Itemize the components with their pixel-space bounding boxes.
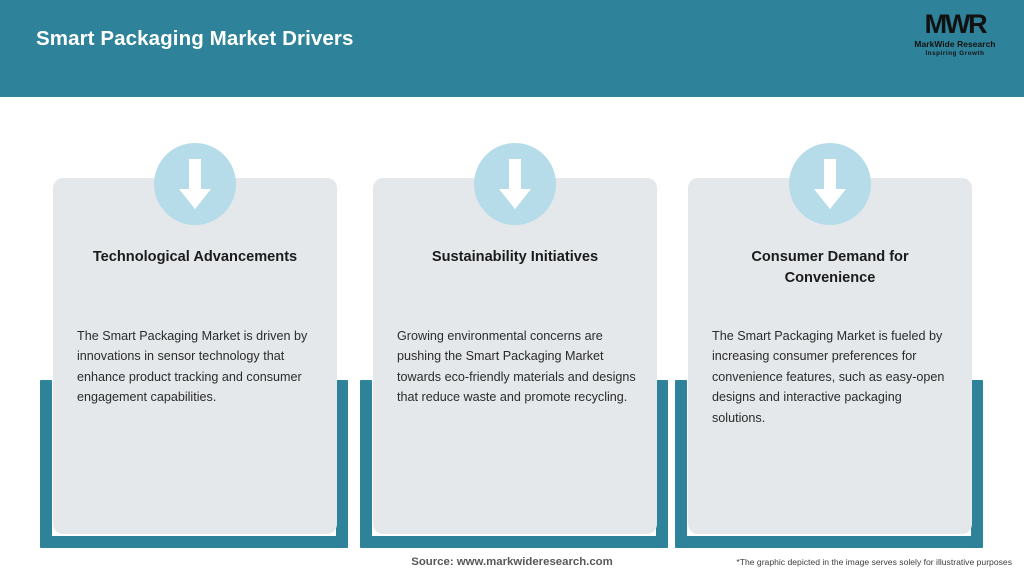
driver-card-3[interactable]: Consumer Demand for Convenience The Smar… [688,178,972,534]
frame-left-bar [360,380,372,548]
page-title: Smart Packaging Market Drivers [36,27,353,51]
logo-mark: MWR [925,11,986,38]
frame-corner-left [40,524,52,536]
driver-card-body: The Smart Packaging Market is driven by … [77,326,317,408]
driver-card-body: The Smart Packaging Market is fueled by … [712,326,952,428]
frame-left-bar [40,380,52,548]
frame-bottom-bar [40,536,348,548]
driver-card-title: Consumer Demand for Convenience [704,247,956,290]
driver-card-title: Technological Advancements [69,247,321,268]
arrow-down-icon [474,143,556,225]
driver-card-1[interactable]: Technological Advancements The Smart Pac… [53,178,337,534]
frame-corner-left [360,524,372,536]
arrow-down-icon [789,143,871,225]
slide-canvas: Smart Packaging Market Drivers MWR MarkW… [0,0,1024,576]
arrow-down-icon [154,143,236,225]
disclaimer-note: *The graphic depicted in the image serve… [736,557,1012,567]
logo-company-name: MarkWide Research [914,39,995,50]
frame-corner-right [656,524,668,536]
frame-left-bar [675,380,687,548]
frame-right-bar [656,380,668,548]
frame-bottom-bar [675,536,983,548]
frame-bottom-bar [360,536,668,548]
logo-tagline: Inspiring Growth [925,50,984,57]
frame-corner-right [336,524,348,536]
frame-right-bar [971,380,983,548]
header-bar: Smart Packaging Market Drivers MWR MarkW… [0,0,1024,97]
frame-corner-left [675,524,687,536]
frame-corner-right [971,524,983,536]
driver-card-2[interactable]: Sustainability Initiatives Growing envir… [373,178,657,534]
driver-card-body: Growing environmental concerns are pushi… [397,326,637,408]
frame-right-bar [336,380,348,548]
logo: MWR MarkWide Research Inspiring Growth [900,8,1010,60]
driver-card-title: Sustainability Initiatives [389,247,641,268]
